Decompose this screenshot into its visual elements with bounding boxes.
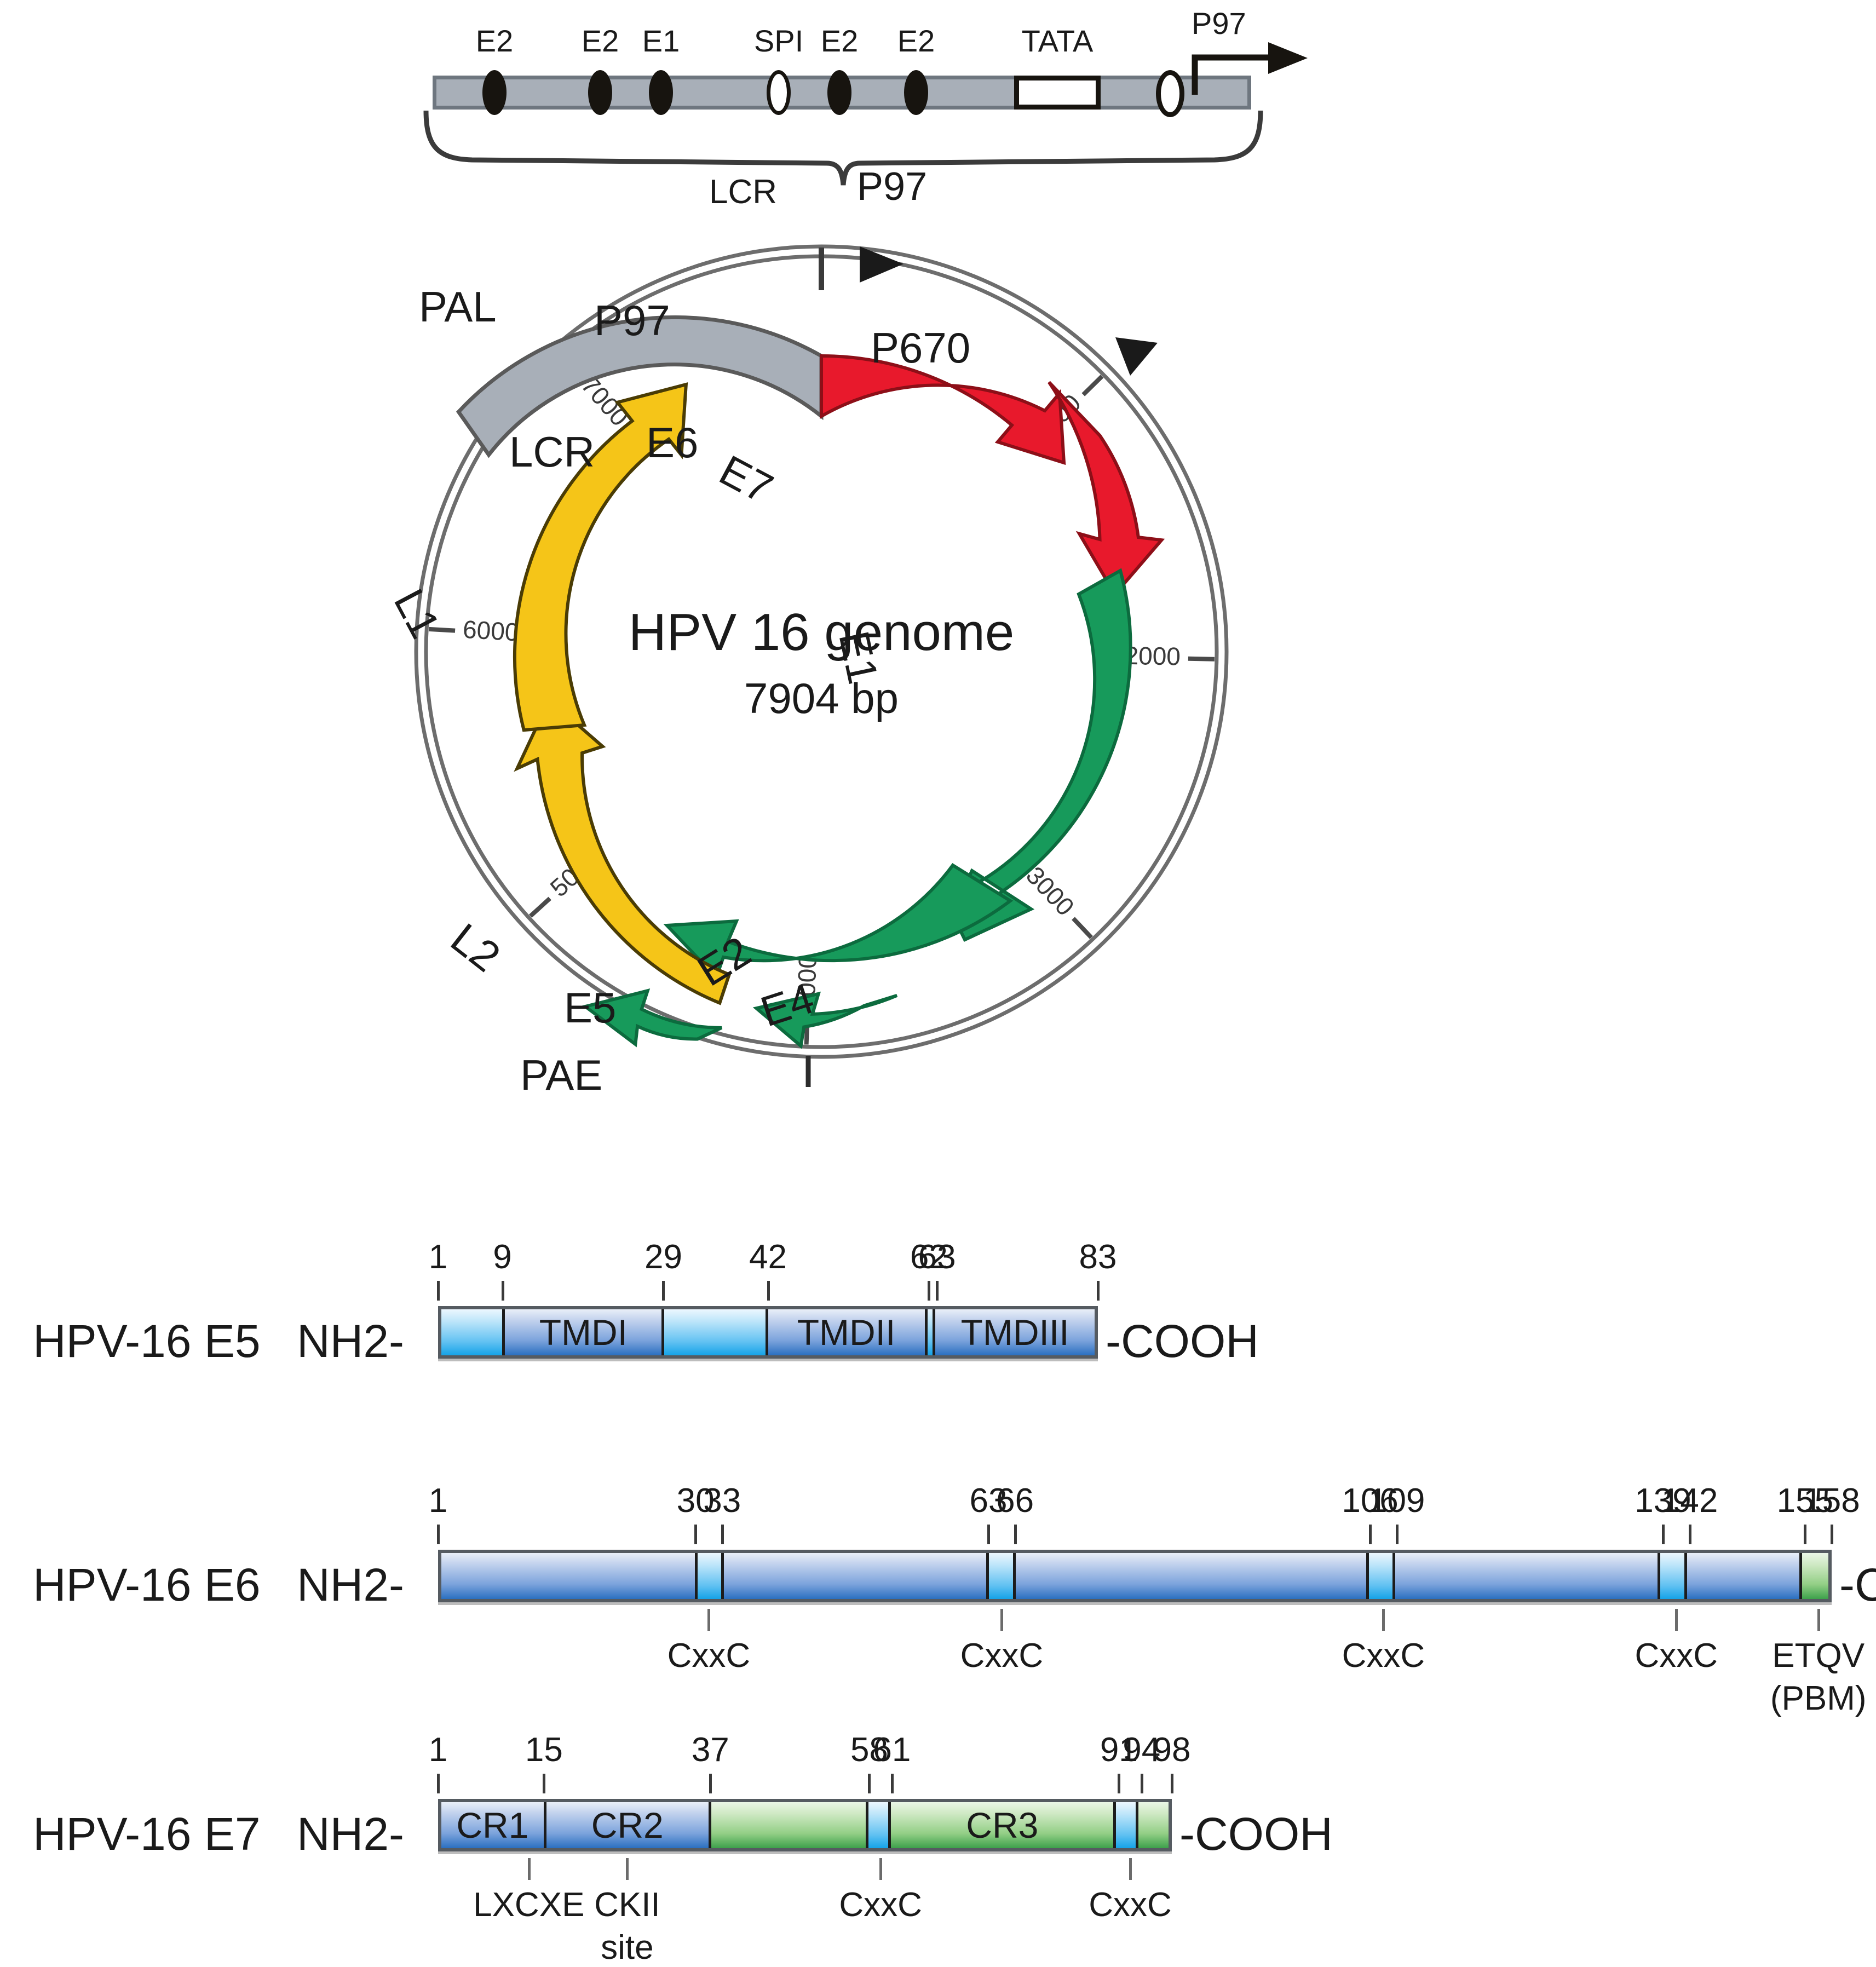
position-tick-15 (543, 1774, 545, 1793)
protein-segment-green-9 (1802, 1553, 1828, 1599)
pae-label: PAE (520, 1050, 602, 1100)
position-tick-label-6000: 6000 (462, 615, 520, 647)
position-tick-30 (694, 1525, 697, 1544)
gene-label-e5: E5 (564, 983, 616, 1033)
n-terminus-label: NH2- (297, 1315, 404, 1368)
protein-segment-tmdii: TMDII (768, 1309, 928, 1355)
position-tick-33 (721, 1525, 724, 1544)
motif-label-cxxc-1: CxxC (960, 1636, 1044, 1675)
lcr-site-label-e2-5: E2 (897, 23, 935, 59)
pal-label: PAL (419, 282, 497, 332)
protein-segment-blue-6 (1395, 1553, 1660, 1599)
position-number-66: 66 (996, 1481, 1034, 1520)
p97-bar-label: P97 (1192, 5, 1246, 41)
motif-label-cxxc-3: CxxC (1635, 1636, 1718, 1675)
motif-label-lxcxe-0: LXCXE (473, 1885, 584, 1924)
motif-label-cxxc-0: CxxC (667, 1636, 751, 1675)
motif-label-etqvpbm-4-line2: (PBM) (1770, 1679, 1867, 1718)
position-tick-2000 (1188, 659, 1215, 659)
position-tick-91 (1118, 1774, 1120, 1793)
position-number-109: 109 (1368, 1481, 1425, 1520)
position-tick-98 (1171, 1774, 1173, 1793)
lcr-site-label-spi-3: SPI (754, 23, 803, 59)
lcr-site-label-e2-4: E2 (821, 23, 859, 59)
position-number-98: 98 (1153, 1730, 1191, 1769)
position-tick-1000 (1083, 376, 1102, 395)
motif-label-ckiisite-1-line2: site (601, 1928, 653, 1967)
p670-circle-label: P670 (871, 323, 970, 373)
genome-center-title: HPV 16 genome (624, 602, 1018, 663)
motif-label-cxxc-2: CxxC (1342, 1636, 1425, 1675)
motif-tick-3 (1129, 1858, 1132, 1880)
lcr-site-label-tata-6: TATA (1022, 23, 1094, 59)
protein-bar: CR1CR2CR3 (438, 1799, 1172, 1851)
segment-label: CR1 (456, 1807, 528, 1843)
lcr-site-label-e2-0: E2 (476, 23, 514, 59)
position-tick-42 (767, 1281, 770, 1301)
motif-tick-0 (707, 1609, 710, 1631)
protein-name-label: HPV-16 E5 (33, 1315, 261, 1368)
gene-label-lcr: LCR (509, 427, 595, 477)
position-tick-29 (662, 1281, 665, 1301)
gene-label-e6: E6 (646, 418, 698, 468)
protein-segment-cr2: CR2 (546, 1802, 711, 1848)
position-tick-142 (1689, 1525, 1691, 1544)
position-tick-139 (1662, 1525, 1665, 1544)
position-tick-1 (437, 1525, 440, 1544)
lcr-site-label-e2-1: E2 (582, 23, 619, 59)
p97-circle-label: P97 (594, 296, 670, 346)
motif-tick-2 (1382, 1609, 1385, 1631)
position-tick-1 (437, 1774, 440, 1793)
p97-transcription-arrow-icon (1192, 40, 1312, 100)
position-tick-63 (987, 1525, 990, 1544)
position-number-1: 1 (429, 1481, 447, 1520)
motif-tick-0 (528, 1858, 531, 1880)
genome-center-subtitle: 7904 bp (624, 674, 1018, 723)
protein-segment-green-2 (711, 1802, 869, 1848)
protein-segment-blue-4 (1016, 1553, 1369, 1599)
protein-segment-blue-8 (1687, 1553, 1802, 1599)
protein-segment-blue-2 (724, 1553, 989, 1599)
protein-segment-cyan-5 (1116, 1802, 1138, 1848)
position-number-83: 83 (1079, 1238, 1117, 1276)
circular-genome-panel: 1000200030004000500060007000 (0, 181, 1876, 1183)
position-number-1: 1 (429, 1238, 447, 1276)
motif-tick-2 (879, 1858, 882, 1880)
position-number-1: 1 (429, 1730, 447, 1769)
lcr-site-label-e1-2: E1 (642, 23, 680, 59)
lcr-brace-icon (422, 108, 1265, 191)
p670-marker-triangle-icon (1115, 337, 1158, 376)
motif-tick-1 (1000, 1609, 1003, 1631)
motif-label-ckiisite-1: CKII (594, 1885, 660, 1924)
position-tick-label-2000: 2000 (1124, 641, 1181, 671)
protein-segment-green-6 (1138, 1802, 1169, 1848)
protein-segment-tmdi: TMDI (505, 1309, 664, 1355)
position-tick-63 (936, 1281, 939, 1301)
position-tick-1 (437, 1281, 440, 1301)
motif-tick-3 (1675, 1609, 1678, 1631)
motif-label-cxxc-2: CxxC (839, 1885, 922, 1924)
position-tick-3000 (1073, 918, 1091, 938)
segment-label: TMDIII (961, 1314, 1069, 1350)
n-terminus-label: NH2- (297, 1558, 404, 1612)
segment-label: CR3 (966, 1807, 1038, 1843)
motif-label-cxxc-3: CxxC (1089, 1885, 1172, 1924)
position-number-33: 33 (703, 1481, 741, 1520)
protein-segment-cr3: CR3 (891, 1802, 1116, 1848)
position-tick-61 (891, 1774, 894, 1793)
position-number-61: 61 (873, 1730, 911, 1769)
protein-segment-cyan-5 (1369, 1553, 1395, 1599)
protein-segment-cyan-0 (441, 1309, 505, 1355)
protein-name-label: HPV-16 E7 (33, 1808, 261, 1861)
protein-bar (438, 1550, 1832, 1602)
c-terminus-label: -COOH (1106, 1315, 1259, 1368)
position-number-9: 9 (493, 1238, 511, 1276)
protein-bar: TMDITMDIITMDIII (438, 1306, 1098, 1359)
c-terminus-label: -COOH (1839, 1558, 1876, 1612)
position-number-63: 63 (918, 1238, 956, 1276)
position-number-29: 29 (644, 1238, 682, 1276)
protein-segment-cyan-4 (928, 1309, 936, 1355)
position-number-15: 15 (525, 1730, 563, 1769)
segment-label: TMDII (797, 1314, 896, 1350)
protein-segment-blue-0 (441, 1553, 698, 1599)
position-tick-109 (1396, 1525, 1399, 1544)
protein-segment-cyan-7 (1660, 1553, 1687, 1599)
protein-segment-cyan-3 (868, 1802, 891, 1848)
protein-segment-cyan-3 (989, 1553, 1015, 1599)
protein-segment-cyan-2 (664, 1309, 768, 1355)
protein-segment-tmdiii: TMDIII (935, 1309, 1095, 1355)
position-tick-58 (868, 1774, 871, 1793)
segment-label: TMDI (539, 1314, 628, 1350)
position-number-37: 37 (692, 1730, 729, 1769)
position-tick-106 (1369, 1525, 1372, 1544)
position-tick-5000 (531, 899, 550, 916)
protein-domain-panel: HPV-16 E5NH2--COOHTMDITMDIITMDIII1929426… (0, 1221, 1876, 1915)
position-tick-94 (1141, 1774, 1143, 1793)
position-number-158: 158 (1803, 1481, 1860, 1520)
n-terminus-label: NH2- (297, 1808, 404, 1861)
protein-segment-cyan-1 (698, 1553, 724, 1599)
motif-label-etqvpbm-4: ETQV (1772, 1636, 1865, 1675)
position-tick-155 (1804, 1525, 1806, 1544)
motif-tick-4 (1817, 1609, 1820, 1631)
position-tick-83 (1097, 1281, 1100, 1301)
position-number-42: 42 (749, 1238, 787, 1276)
protein-name-label: HPV-16 E6 (33, 1558, 261, 1612)
c-terminus-label: -COOH (1179, 1808, 1333, 1861)
position-tick-62 (928, 1281, 930, 1301)
segment-label: CR2 (591, 1807, 664, 1843)
position-tick-9 (502, 1281, 504, 1301)
position-tick-66 (1014, 1525, 1017, 1544)
protein-segment-cr1: CR1 (441, 1802, 546, 1848)
position-number-142: 142 (1661, 1481, 1718, 1520)
tata-box-glyph (1014, 76, 1101, 110)
position-tick-37 (709, 1774, 712, 1793)
position-tick-158 (1831, 1525, 1833, 1544)
motif-tick-1 (626, 1858, 629, 1880)
